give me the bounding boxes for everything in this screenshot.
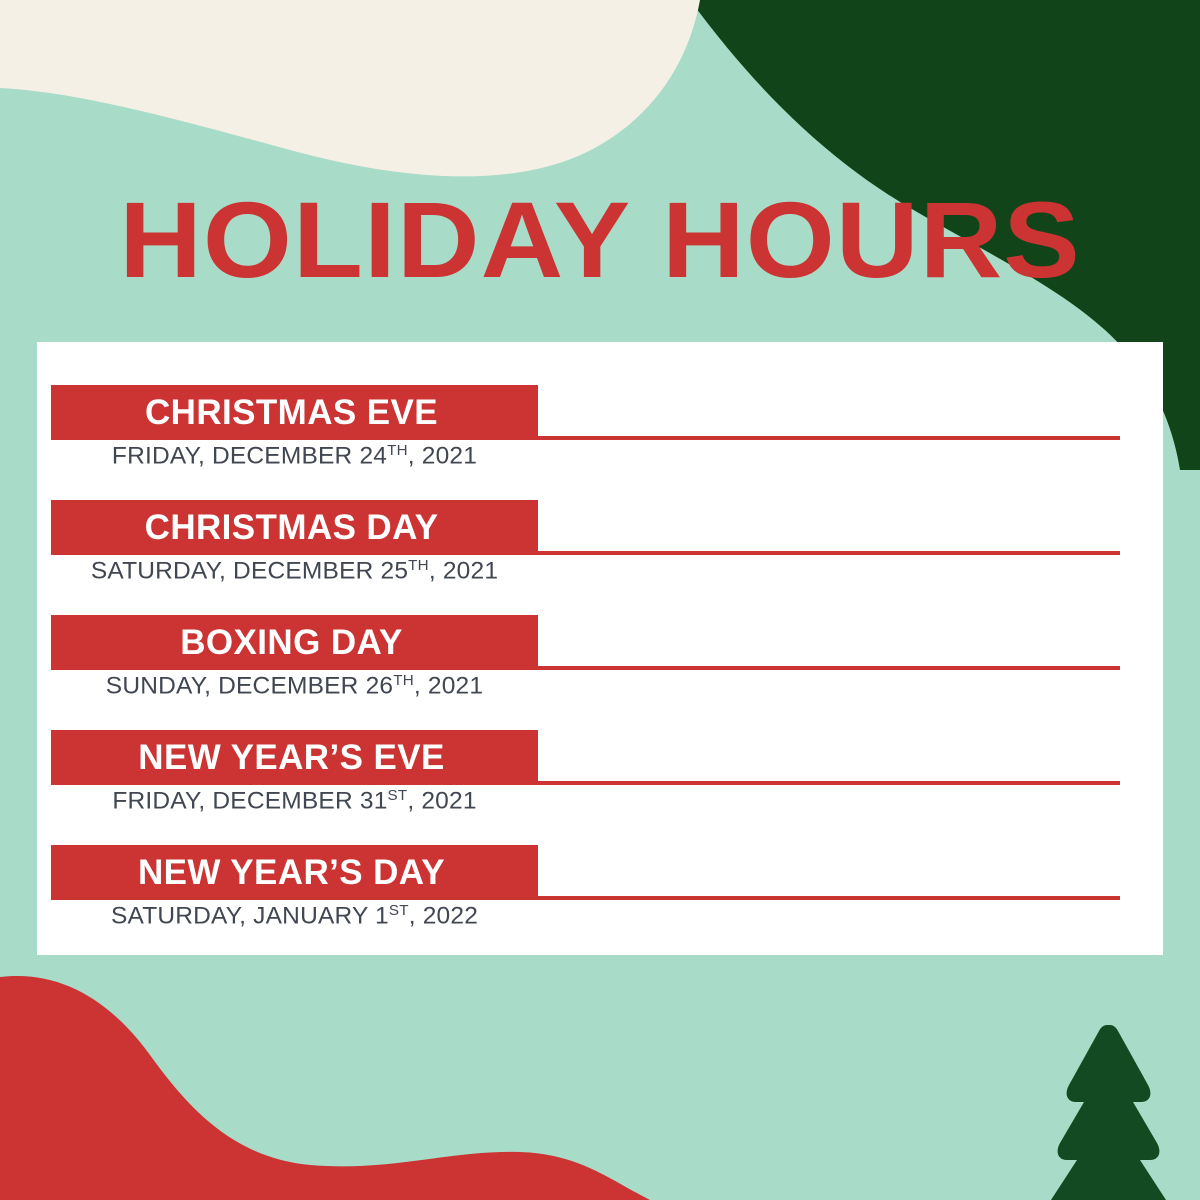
hours-write-in-line[interactable] [538,551,1120,555]
holiday-name-bar: CHRISTMAS EVE [51,385,538,440]
date-prefix: SATURDAY, JANUARY 1 [111,902,389,929]
schedule-row: NEW YEAR’S DAY SATURDAY, JANUARY 1ST, 20… [37,802,1163,917]
holiday-hours-poster: HOLIDAY HOURS CHRISTMAS EVE FRIDAY, DECE… [0,0,1200,1200]
schedule-row: BOXING DAY SUNDAY, DECEMBER 26TH, 2021 [37,572,1163,687]
holiday-name-label: CHRISTMAS EVE [51,393,538,433]
date-ordinal: ST [389,902,409,919]
schedule-rows: CHRISTMAS EVE FRIDAY, DECEMBER 24TH, 202… [37,342,1163,917]
schedule-row: NEW YEAR’S EVE FRIDAY, DECEMBER 31ST, 20… [37,687,1163,802]
holiday-name-bar: NEW YEAR’S DAY [51,845,538,900]
holiday-name-bar: CHRISTMAS DAY [51,500,538,555]
holiday-name-label: BOXING DAY [51,623,538,663]
holiday-date-label: SATURDAY, JANUARY 1ST, 2022 [51,902,538,930]
date-suffix: , 2022 [409,902,478,929]
schedule-row: CHRISTMAS DAY SATURDAY, DECEMBER 25TH, 2… [37,457,1163,572]
holiday-name-label: NEW YEAR’S EVE [51,738,538,778]
holiday-name-bar: BOXING DAY [51,615,538,670]
hours-write-in-line[interactable] [538,436,1120,440]
holiday-name-bar: NEW YEAR’S EVE [51,730,538,785]
hours-write-in-line[interactable] [538,781,1120,785]
schedule-row: CHRISTMAS EVE FRIDAY, DECEMBER 24TH, 202… [37,342,1163,457]
schedule-card: CHRISTMAS EVE FRIDAY, DECEMBER 24TH, 202… [37,342,1163,955]
page-title: HOLIDAY HOURS [0,186,1200,294]
holiday-name-label: NEW YEAR’S DAY [51,853,538,893]
hours-write-in-line[interactable] [538,896,1120,900]
hours-write-in-line[interactable] [538,666,1120,670]
holiday-name-label: CHRISTMAS DAY [51,508,538,548]
